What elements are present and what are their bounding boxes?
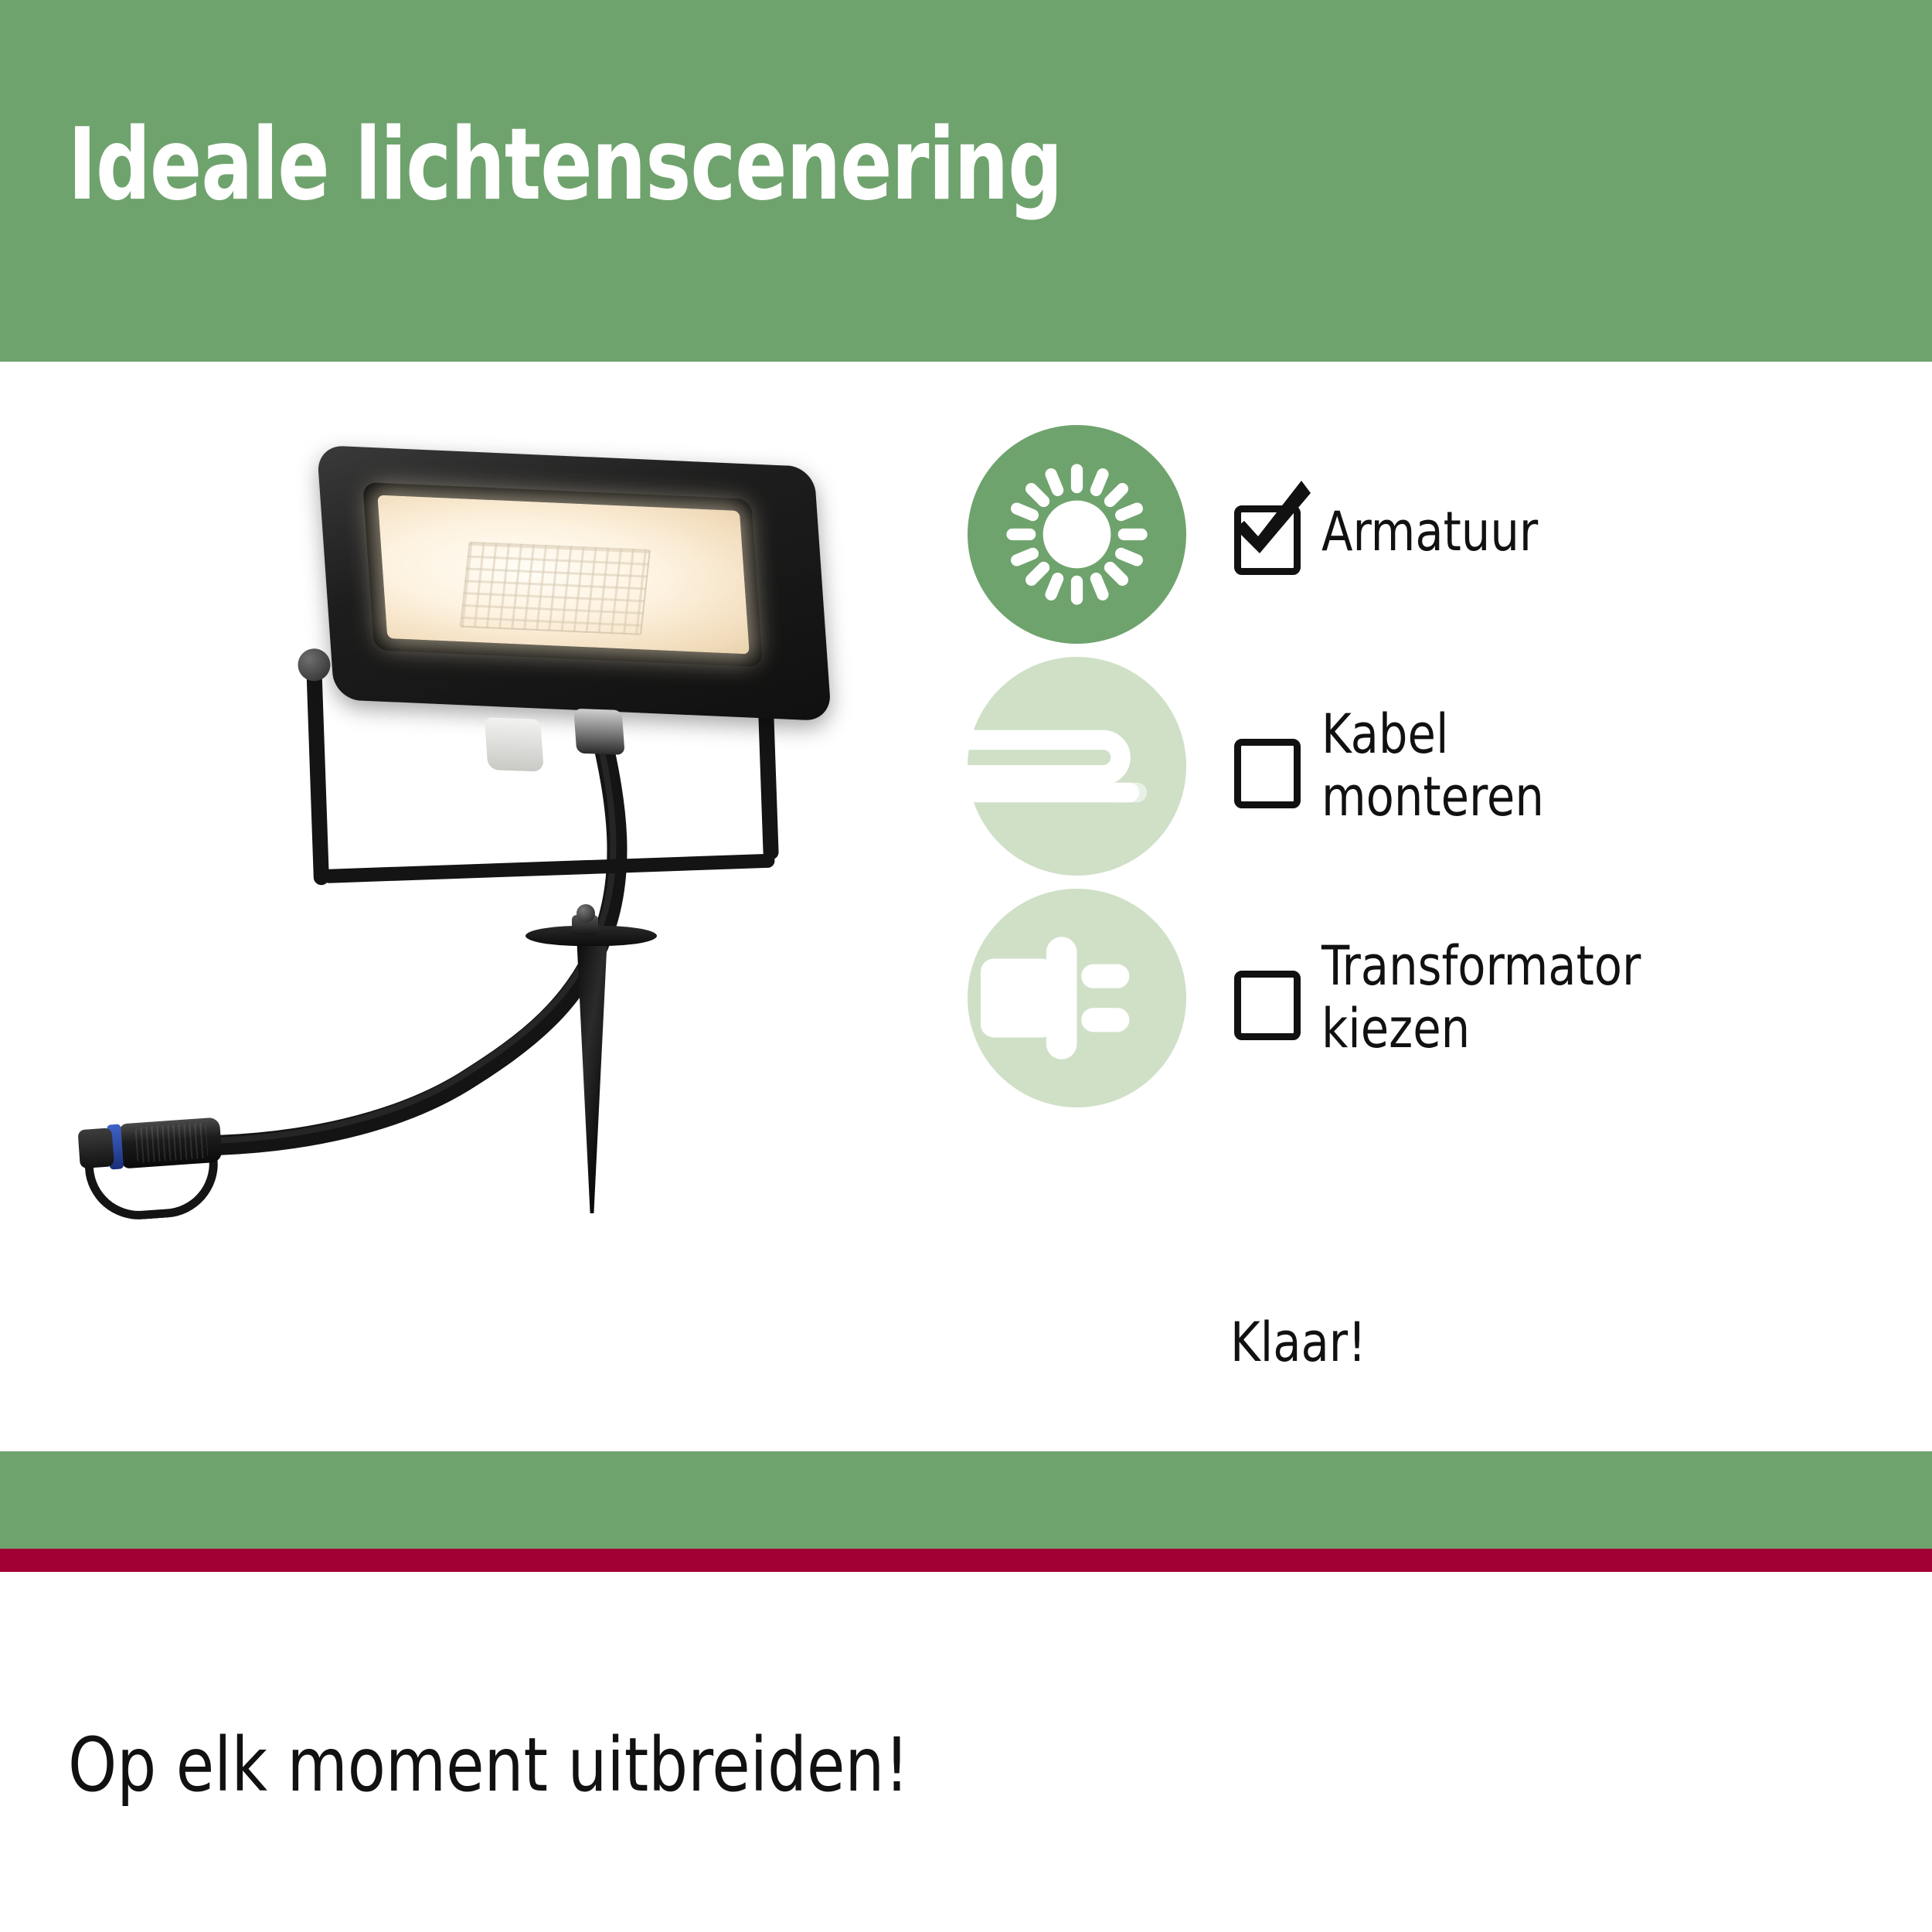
floodlight-head [301, 423, 872, 923]
bracket-bottom [321, 854, 774, 883]
done-text: Klaar! [1230, 1311, 1366, 1374]
header-band: Ideale lichtenscenering [0, 0, 1932, 362]
connector-ribs [134, 1123, 208, 1163]
cable-gland [573, 709, 624, 755]
checklist: Armatuur Kabel monteren [968, 425, 1903, 1121]
footer-text: Op elk moment uitbreiden! [68, 1722, 909, 1808]
sun-icon [968, 425, 1186, 644]
checkbox-armatuur[interactable] [1234, 505, 1301, 575]
footer-green-band [0, 1451, 1932, 1549]
poster-root: Ideale lichtenscenering [0, 0, 1932, 1932]
checklist-label-transformator: Transformator kiezen [1321, 935, 1641, 1060]
badge-cable [968, 657, 1186, 876]
product-image [31, 402, 943, 1422]
connector-cap [77, 1128, 114, 1168]
plug-icon [968, 889, 1186, 1107]
checklist-item-transformator[interactable]: Transformator kiezen [968, 889, 1903, 1121]
led-array [460, 542, 651, 635]
checkbox-kabel[interactable] [1234, 739, 1301, 808]
checklist-label-kabel: Kabel monteren [1321, 703, 1544, 828]
motion-sensor [485, 717, 544, 771]
checklist-item-armatuur[interactable]: Armatuur [968, 425, 1903, 657]
checklist-label-armatuur: Armatuur [1321, 501, 1538, 563]
cable-connector [74, 1116, 223, 1174]
badge-sun [968, 425, 1186, 644]
checklist-item-kabel[interactable]: Kabel monteren [968, 657, 1903, 889]
spike-ball-joint [577, 904, 595, 923]
checkbox-transformator[interactable] [1234, 971, 1301, 1040]
badge-plug [968, 889, 1186, 1107]
page-title: Ideale lichtenscenering [68, 116, 1062, 215]
cable-icon [968, 657, 1186, 876]
footer-red-band [0, 1549, 1932, 1572]
